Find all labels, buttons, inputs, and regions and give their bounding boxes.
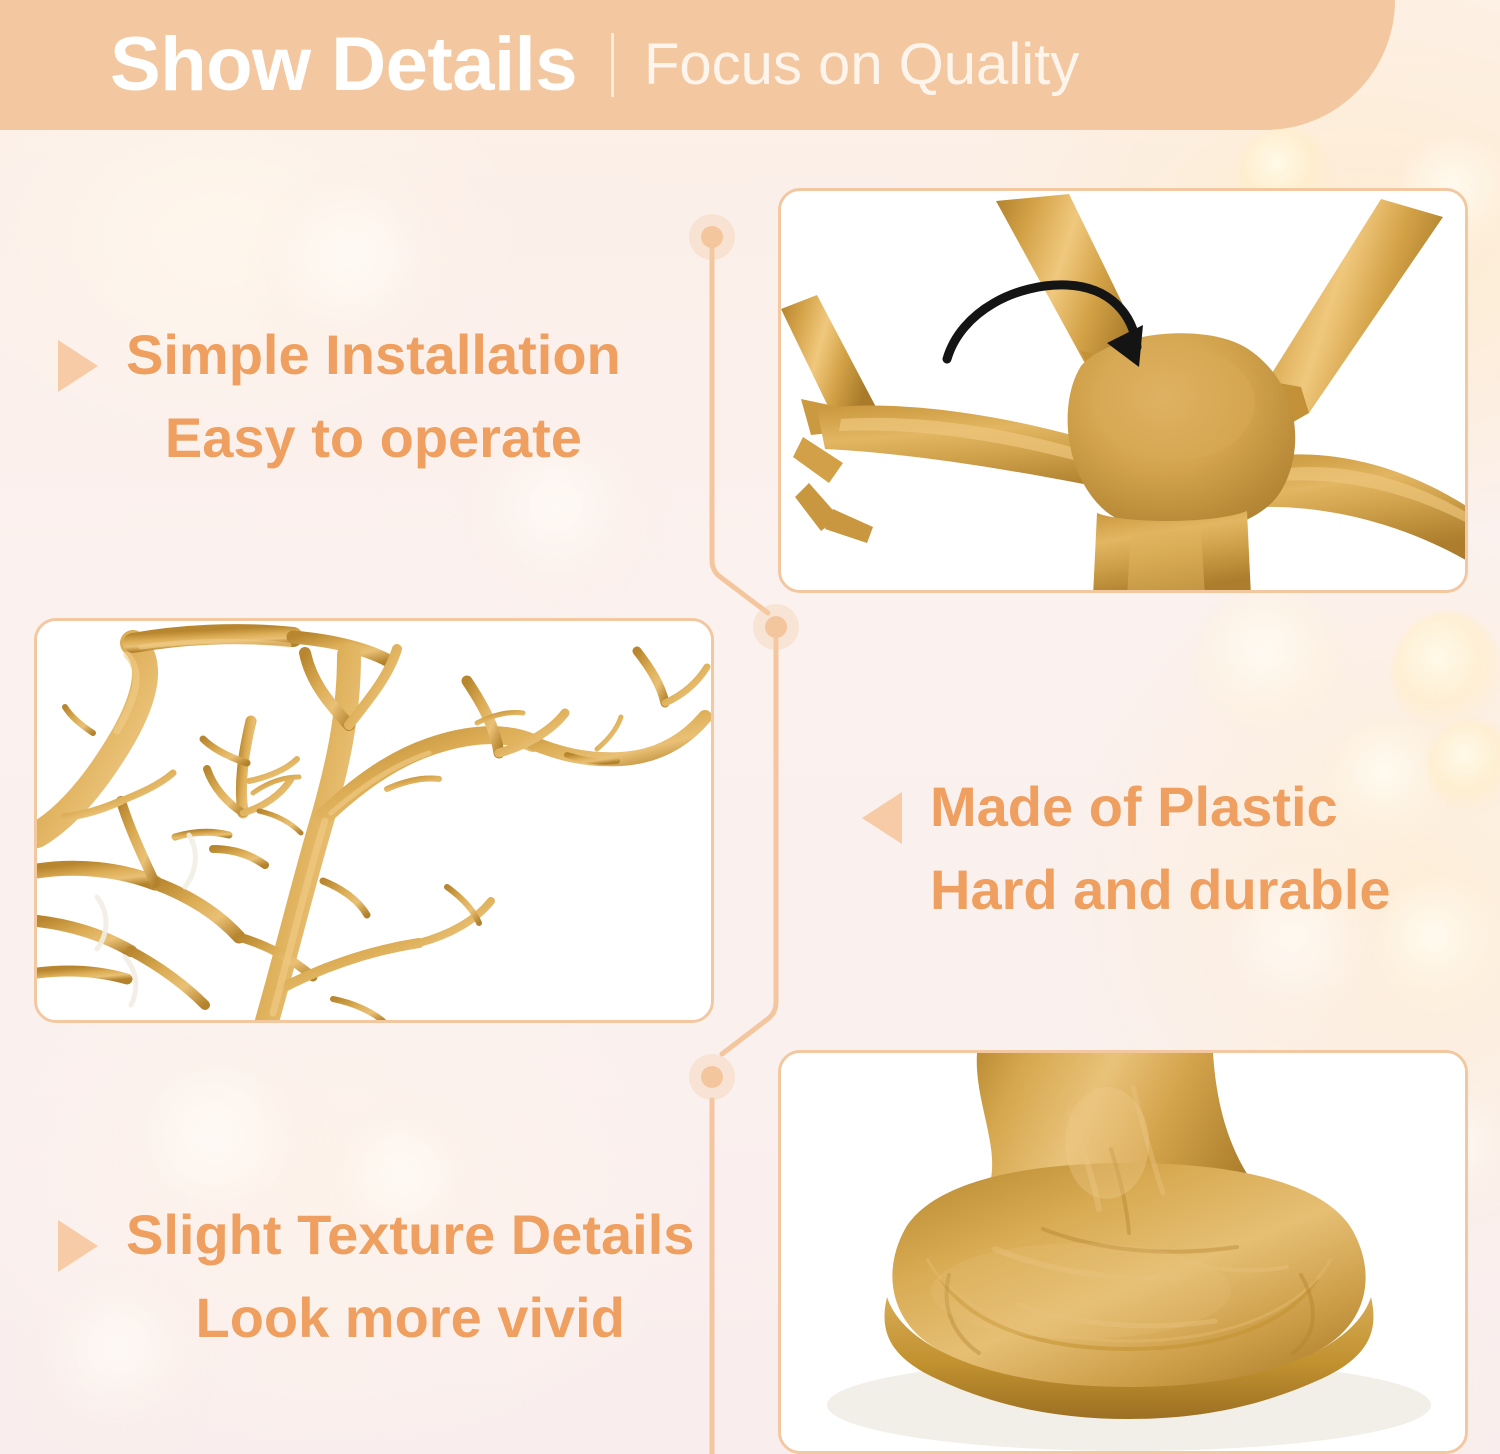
feature-slight-texture-details: Slight Texture Details Look more vivid: [58, 1196, 694, 1357]
feature-subline: Look more vivid: [195, 1279, 624, 1356]
feature-headline: Simple Installation: [126, 316, 621, 393]
connector-node-bottom: [689, 1054, 735, 1100]
feature-made-of-plastic: Made of Plastic Hard and durable: [862, 768, 1391, 929]
feature-headline: Made of Plastic: [930, 768, 1391, 845]
photo-gold-branches: [37, 621, 711, 1020]
photo-card-gold-branches[interactable]: [34, 618, 714, 1023]
page-subtitle: Focus on Quality: [644, 36, 1079, 94]
connector-node-top: [689, 214, 735, 260]
photo-card-gold-base[interactable]: [778, 1050, 1468, 1454]
branch-joint-illustration: [781, 191, 1465, 590]
triangle-left-icon: [862, 792, 902, 844]
infographic-page: Show Details Focus on Quality: [0, 0, 1500, 1454]
photo-branch-joint: [781, 191, 1465, 590]
feature-text: Slight Texture Details Look more vivid: [126, 1196, 694, 1357]
page-title: Show Details: [110, 27, 577, 103]
feature-simple-installation: Simple Installation Easy to operate: [58, 316, 621, 477]
gold-branches-illustration: [37, 621, 711, 1020]
gold-base-illustration: [781, 1053, 1465, 1451]
triangle-right-icon: [58, 1220, 98, 1272]
feature-subline: Easy to operate: [165, 399, 582, 476]
feature-text: Simple Installation Easy to operate: [126, 316, 621, 477]
feature-subline: Hard and durable: [930, 851, 1391, 928]
header-band: Show Details Focus on Quality: [0, 0, 1395, 130]
feature-headline: Slight Texture Details: [126, 1196, 694, 1273]
connector-node-middle: [753, 604, 799, 650]
header-divider: [611, 33, 614, 97]
photo-gold-base: [781, 1053, 1465, 1451]
photo-card-branch-joint[interactable]: [778, 188, 1468, 593]
triangle-right-icon: [58, 340, 98, 392]
feature-text: Made of Plastic Hard and durable: [930, 768, 1391, 929]
